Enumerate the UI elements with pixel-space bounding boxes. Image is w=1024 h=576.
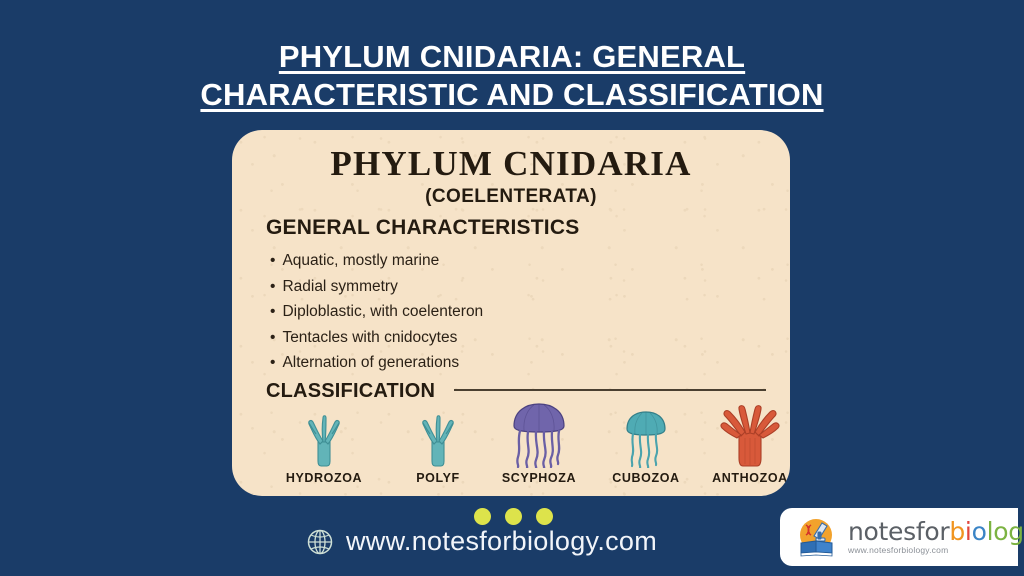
class-item-anthozoa: ANTHOZOA [694,404,790,485]
general-characteristics-heading: GENERAL CHARACTERISTICS [266,216,579,240]
list-item: Aquatic, mostly marine [270,248,570,274]
wordmark-b: b [949,517,965,546]
card-subheading: (COELENTERATA) [232,186,790,208]
dot [505,508,522,525]
classification-row: HYDROZOA [232,398,790,478]
characteristics-list: Aquatic, mostly marine Radial symmetry D… [270,248,570,376]
decorative-dots [474,508,553,525]
brand-wordmark: notesforbiology www.notesforbiology.com [848,519,1024,555]
class-label: CUBOZOA [592,471,700,485]
list-item: Tentacles with cnidocytes [270,325,570,351]
card-heading: PHYLUM CNIDARIA [232,144,790,184]
wordmark-i: i [965,517,972,546]
list-item: Radial symmetry [270,274,570,300]
list-item: Diploblastic, with coelenteron [270,299,570,325]
infographic-slide: PHYLUM CNIDARIA: GENERAL CHARACTERISTIC … [0,0,1024,576]
content-card: PHYLUM CNIDARIA (COELENTERATA) GENERAL C… [232,130,790,496]
wordmark-part-1: notesfor [848,517,949,546]
anemone-icon [694,404,790,468]
website-url-row[interactable]: www.notesforbiology.com [306,526,657,557]
class-label: HYDROZOA [268,471,380,485]
polyp-icon [382,412,494,468]
page-title-line-2: CHARACTERISTIC AND CLASSIFICATION [200,76,823,114]
wordmark-part-2: logy [987,517,1024,546]
dot [536,508,553,525]
class-item-cubozoa: CUBOZOA [592,408,700,485]
jellyfish-icon [592,408,700,468]
jellyfish-icon [480,400,598,468]
class-item-hydrozoa: HYDROZOA [268,412,380,485]
list-item: Alternation of generations [270,350,570,376]
polyp-icon [268,412,380,468]
wordmark-o: o [972,517,987,546]
class-item-scyphoza: SCYPHOZA [480,400,598,485]
page-title-line-1: PHYLUM CNIDARIA: GENERAL [279,38,745,76]
logo-url: www.notesforbiology.com [848,546,1024,555]
dot [474,508,491,525]
globe-icon [306,528,334,556]
class-label: POLYF [382,471,494,485]
classification-divider [454,389,766,391]
microscope-book-dna-icon [794,515,838,559]
website-url: www.notesforbiology.com [346,526,657,557]
brand-logo[interactable]: notesforbiology www.notesforbiology.com [780,508,1018,566]
class-item-polyf: POLYF [382,412,494,485]
page-title: PHYLUM CNIDARIA: GENERAL CHARACTERISTIC … [0,38,1024,114]
class-label: SCYPHOZA [480,471,598,485]
class-label: ANTHOZOA [694,471,790,485]
